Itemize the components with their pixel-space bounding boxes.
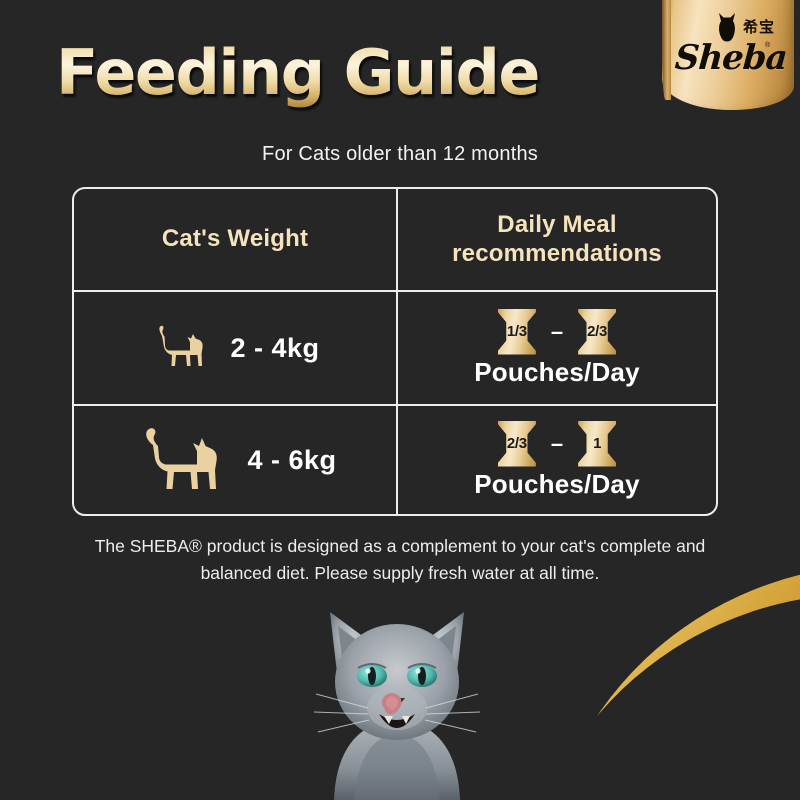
weight-value-row1: 2 - 4kg	[230, 333, 319, 364]
weight-cell-row1: 2 - 4kg	[74, 292, 398, 404]
disclaimer-line1: The SHEBA® product is designed as a comp…	[95, 536, 672, 556]
sheba-logo: 希宝 Sheba ®	[650, 0, 800, 110]
pouch-icon-min-row1: 1/3	[498, 309, 536, 355]
registered-mark: ®	[765, 42, 770, 49]
page-title: Feeding Guide	[56, 36, 539, 109]
pouches-per-day-label-row1: Pouches/Day	[474, 357, 640, 388]
column-header-line1: Daily Meal	[497, 211, 616, 238]
gold-swoosh-decoration	[499, 568, 800, 800]
range-separator-row2: –	[551, 433, 563, 455]
brand-chinese-name: 希宝	[743, 16, 775, 37]
meal-cell-row1: 1/3 – 2/3 Pouches/Day	[398, 292, 716, 404]
feeding-table: Cat's Weight Daily Meal recommendations …	[72, 187, 718, 516]
logo-mark: 希宝 Sheba ®	[668, 4, 790, 92]
meal-cell-row2: 2/3 – 1 Pouches/Day	[398, 406, 716, 514]
feeding-guide-page: 希宝 Sheba ® Feeding Guide For Cats older …	[0, 0, 800, 800]
table-row: 2 - 4kg 1/3 – 2/3 Pouches/Day	[74, 292, 716, 406]
pouches-per-day-label-row2: Pouches/Day	[474, 469, 640, 500]
pouch-icon-max-row1: 2/3	[578, 309, 616, 355]
large-cat-silhouette-icon	[133, 425, 229, 495]
weight-value-row2: 4 - 6kg	[247, 445, 336, 476]
header-cell-weight: Cat's Weight	[74, 189, 398, 290]
gray-cat-licking-lips-photo	[272, 590, 522, 800]
pouch-icon-min-row2: 2/3	[498, 421, 536, 467]
pouch-fraction-min-row1: 1/3	[507, 323, 527, 340]
range-separator-row1: –	[551, 321, 563, 343]
small-cat-silhouette-icon	[150, 324, 212, 372]
pouch-fraction-min-row2: 2/3	[507, 435, 527, 452]
pouch-fraction-max-row2: 1	[593, 435, 601, 452]
table-row: 4 - 6kg 2/3 – 1 Pouches/Day	[74, 406, 716, 514]
disclaimer-text: The SHEBA® product is designed as a comp…	[60, 533, 740, 586]
brand-name: Sheba	[674, 38, 789, 78]
pouch-fraction-max-row1: 2/3	[587, 323, 607, 340]
table-header-row: Cat's Weight Daily Meal recommendations	[74, 189, 716, 292]
pouch-icon-max-row2: 1	[578, 421, 616, 467]
page-subtitle: For Cats older than 12 months	[0, 143, 800, 166]
weight-cell-row2: 4 - 6kg	[74, 406, 398, 514]
column-header-line2: recommendations	[452, 240, 662, 267]
column-header-cats-weight: Cat's Weight	[162, 225, 308, 253]
header-cell-meals: Daily Meal recommendations	[398, 189, 716, 290]
